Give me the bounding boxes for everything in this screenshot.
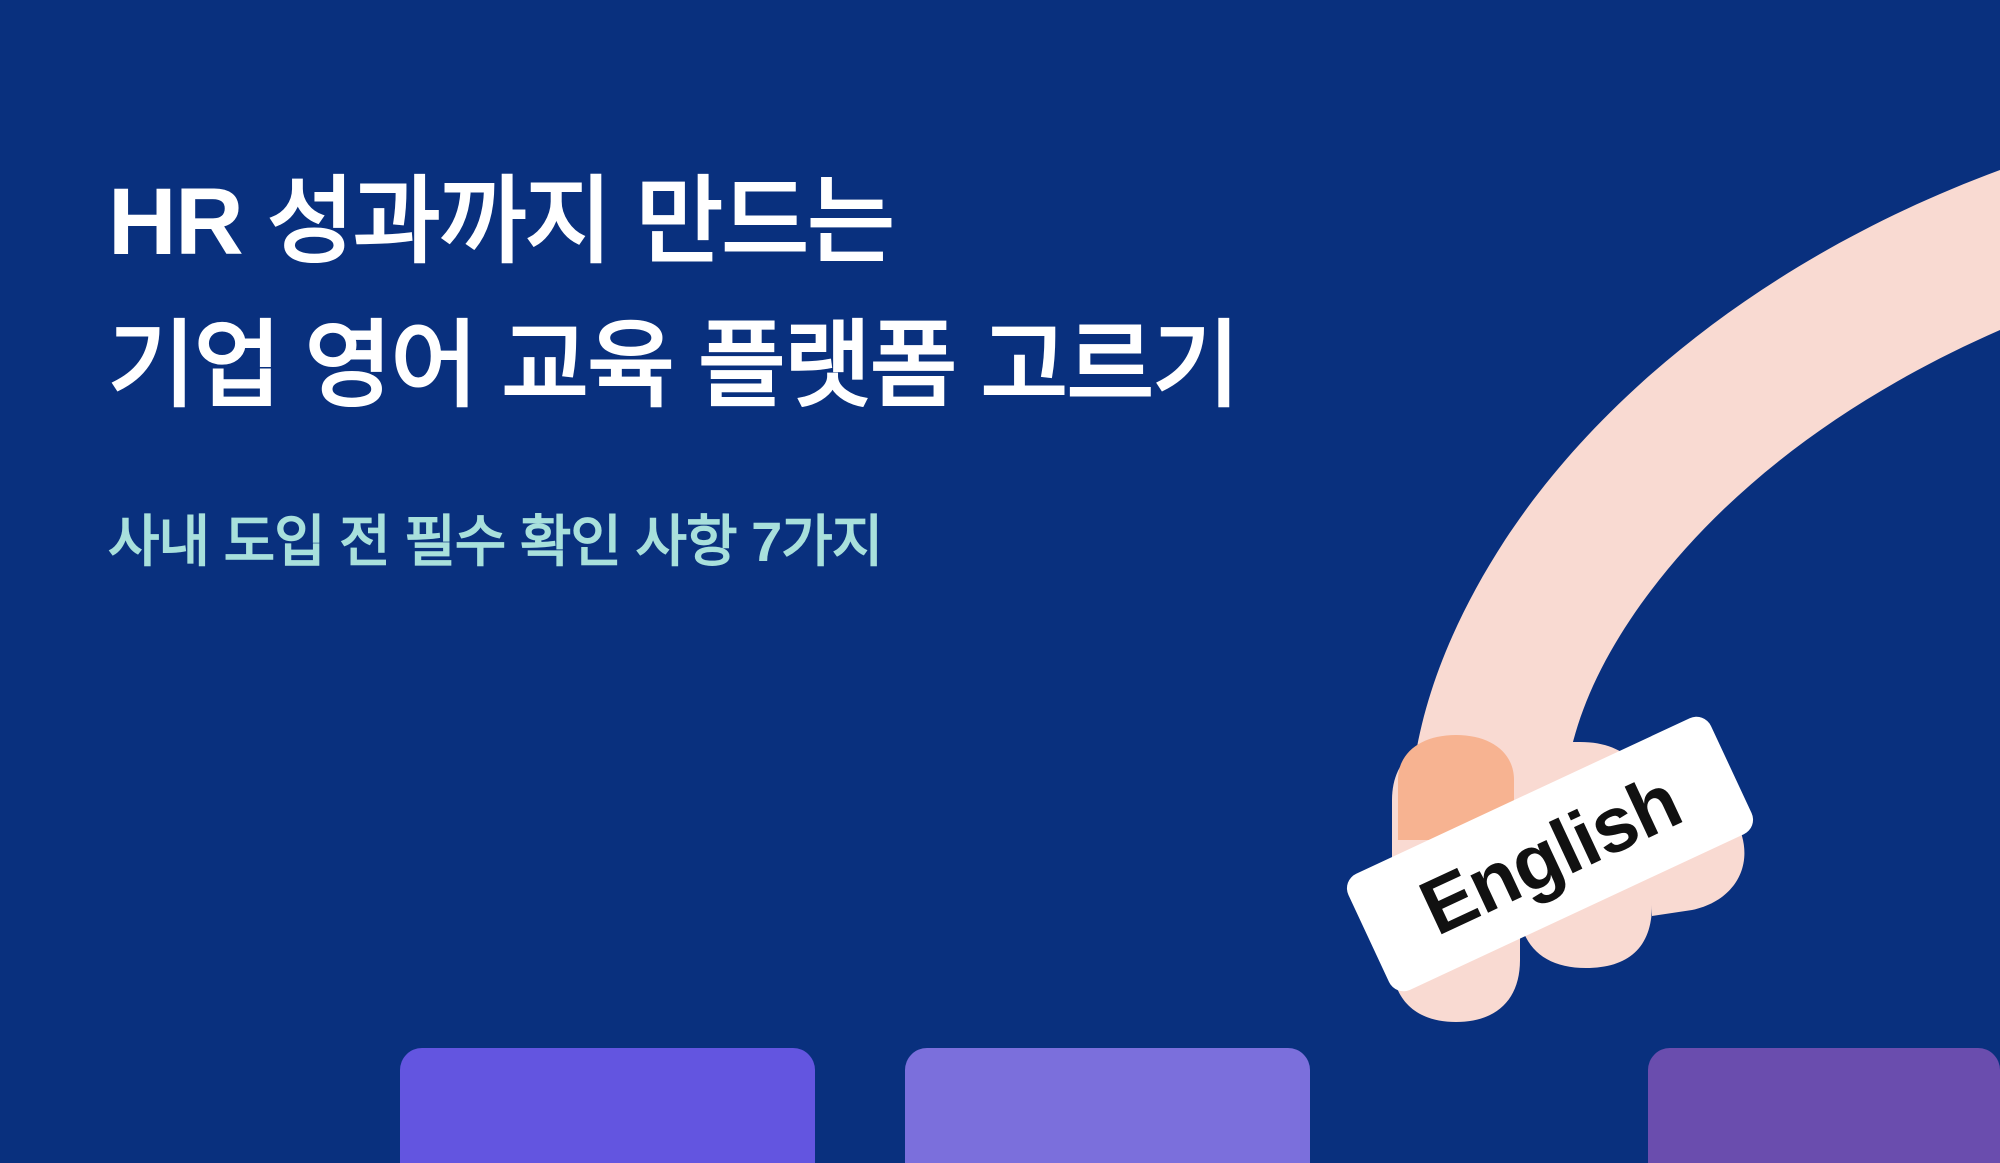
bottom-card-1 [400,1048,815,1163]
bottom-card-2 [905,1048,1310,1163]
headline-line-2: 기업 영어 교육 플랫폼 고르기 [108,294,1408,438]
banner-canvas: HR 성과까지 만드는 기업 영어 교육 플랫폼 고르기 사내 도입 전 필수 … [0,0,2000,1163]
subheadline: 사내 도입 전 필수 확인 사항 7가지 [108,439,1408,578]
headline-line-1: HR 성과까지 만드는 [108,150,1408,294]
text-block: HR 성과까지 만드는 기업 영어 교육 플랫폼 고르기 사내 도입 전 필수 … [108,150,1408,578]
english-card[interactable]: English [1342,711,1759,996]
english-card-label: English [1409,761,1691,948]
bottom-card-3 [1648,1048,2000,1163]
